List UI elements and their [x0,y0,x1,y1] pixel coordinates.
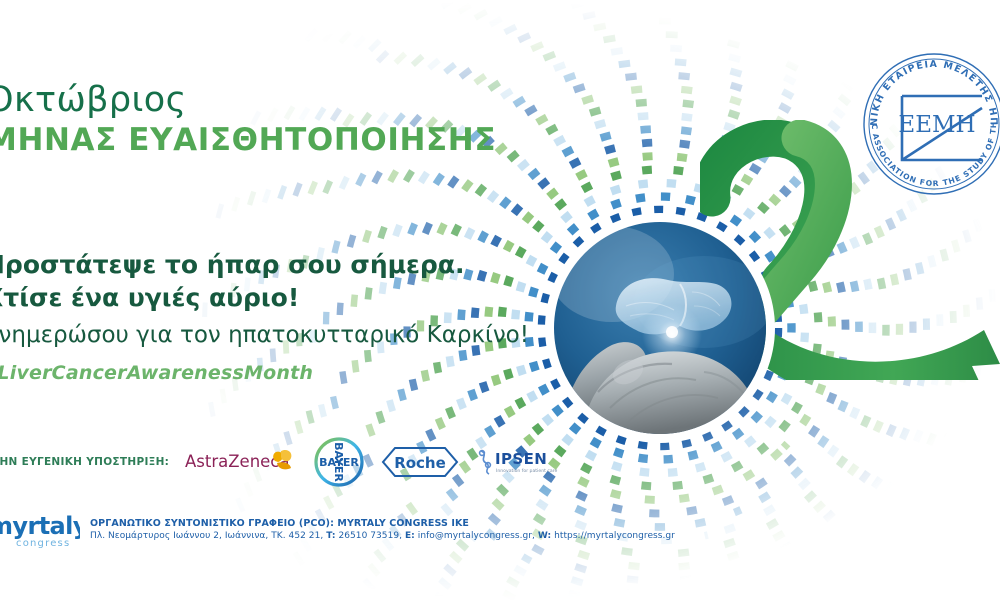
myrtaly-congress-logo[interactable]: myrtaly congress [0,508,80,552]
myrtaly-logo-text: myrtaly [0,512,80,540]
hashtag: #LiverCancerAwarenessMonth [0,362,529,384]
message-line-1: Προστάτεψε το ήπαρ σου σήμερα. [0,248,529,281]
footer-block: myrtaly congress ΟΡΓΑΝΩΤΙΚΟ ΣΥΝΤΟΝΙΣΤΙΚΟ… [0,508,675,552]
congress-logo-text: congress [16,538,70,549]
sponsor-logo-bayer[interactable]: BAYER BAYER [313,436,365,488]
headline-block: Οκτώβριος ΜΗΝΑΣ ΕΥΑΙΣΘΗΤΟΠΟΙΗΣΗΣ [0,82,496,157]
footer-address: Πλ. Νεομάρτυρος Ιωάννου 2, Ιωάννινα, ΤΚ.… [90,531,323,541]
footer-organizer-line: ΟΡΓΑΝΩΤΙΚΟ ΣΥΝΤΟΝΙΣΤΙΚΟ ΓΡΑΦΕΙΟ (PCO): M… [90,518,675,531]
sponsor-ipsen-tagline: Innovation for patient care [496,468,557,474]
hero-image-liver-in-hands [554,222,766,434]
message-line-2: Χτίσε ένα υγιές αύριο! [0,281,529,314]
sponsor-logo-roche[interactable]: Roche [381,445,459,479]
footer-email-label: E: [405,531,415,541]
footer-contact-line: Πλ. Νεομάρτυρος Ιωάννου 2, Ιωάννινα, ΤΚ.… [90,530,675,542]
emblem-acronym: EEMH [898,112,975,138]
footer-phone: 26510 73519, [338,531,402,541]
footer-website[interactable]: https://myrtalycongress.gr [554,531,675,541]
message-block: Προστάτεψε το ήπαρ σου σήμερα. Χτίσε ένα… [0,248,529,384]
footer-email[interactable]: info@myrtalycongress.gr, [418,531,535,541]
headline-month: Οκτώβριος [0,82,496,119]
eemh-association-emblem: ΕΛΛΗΝΙΚΗ ΕΤΑΙΡΕΙΑ ΜΕΛΕΤΗΣ ΗΠΑΤΟΣ HELLENI… [858,48,1000,200]
headline-subtitle: ΜΗΝΑΣ ΕΥΑΙΣΘΗΤΟΠΟΙΗΣΗΣ [0,123,496,157]
sponsor-bayer-text-vertical: BAYER [332,442,345,482]
sponsor-logo-ipsen[interactable]: IPSEN Innovation for patient care [475,445,559,479]
sponsor-roche-text: Roche [394,454,446,472]
footer-web-label: W: [538,531,551,541]
sponsors-label: ΤΗΝ ΕΥΓΕΝΙΚΗ ΥΠΟΣΤΗΡΙΞΗ: [0,456,169,468]
message-line-3: Ενημερώσου για τον ηπατοκυτταρικό Καρκίν… [0,318,529,353]
footer-phone-label: T: [326,531,335,541]
sponsors-row: ΤΗΝ ΕΥΓΕΝΙΚΗ ΥΠΟΣΤΗΡΙΞΗ: AstraZeneca [0,436,559,488]
sponsor-logo-astrazeneca[interactable]: AstraZeneca [185,445,297,479]
sponsor-ipsen-text: IPSEN [495,450,547,468]
awareness-poster: ΕΛΛΗΝΙΚΗ ΕΤΑΙΡΕΙΑ ΜΕΛΕΤΗΣ ΗΠΑΤΟΣ HELLENI… [0,0,1000,600]
